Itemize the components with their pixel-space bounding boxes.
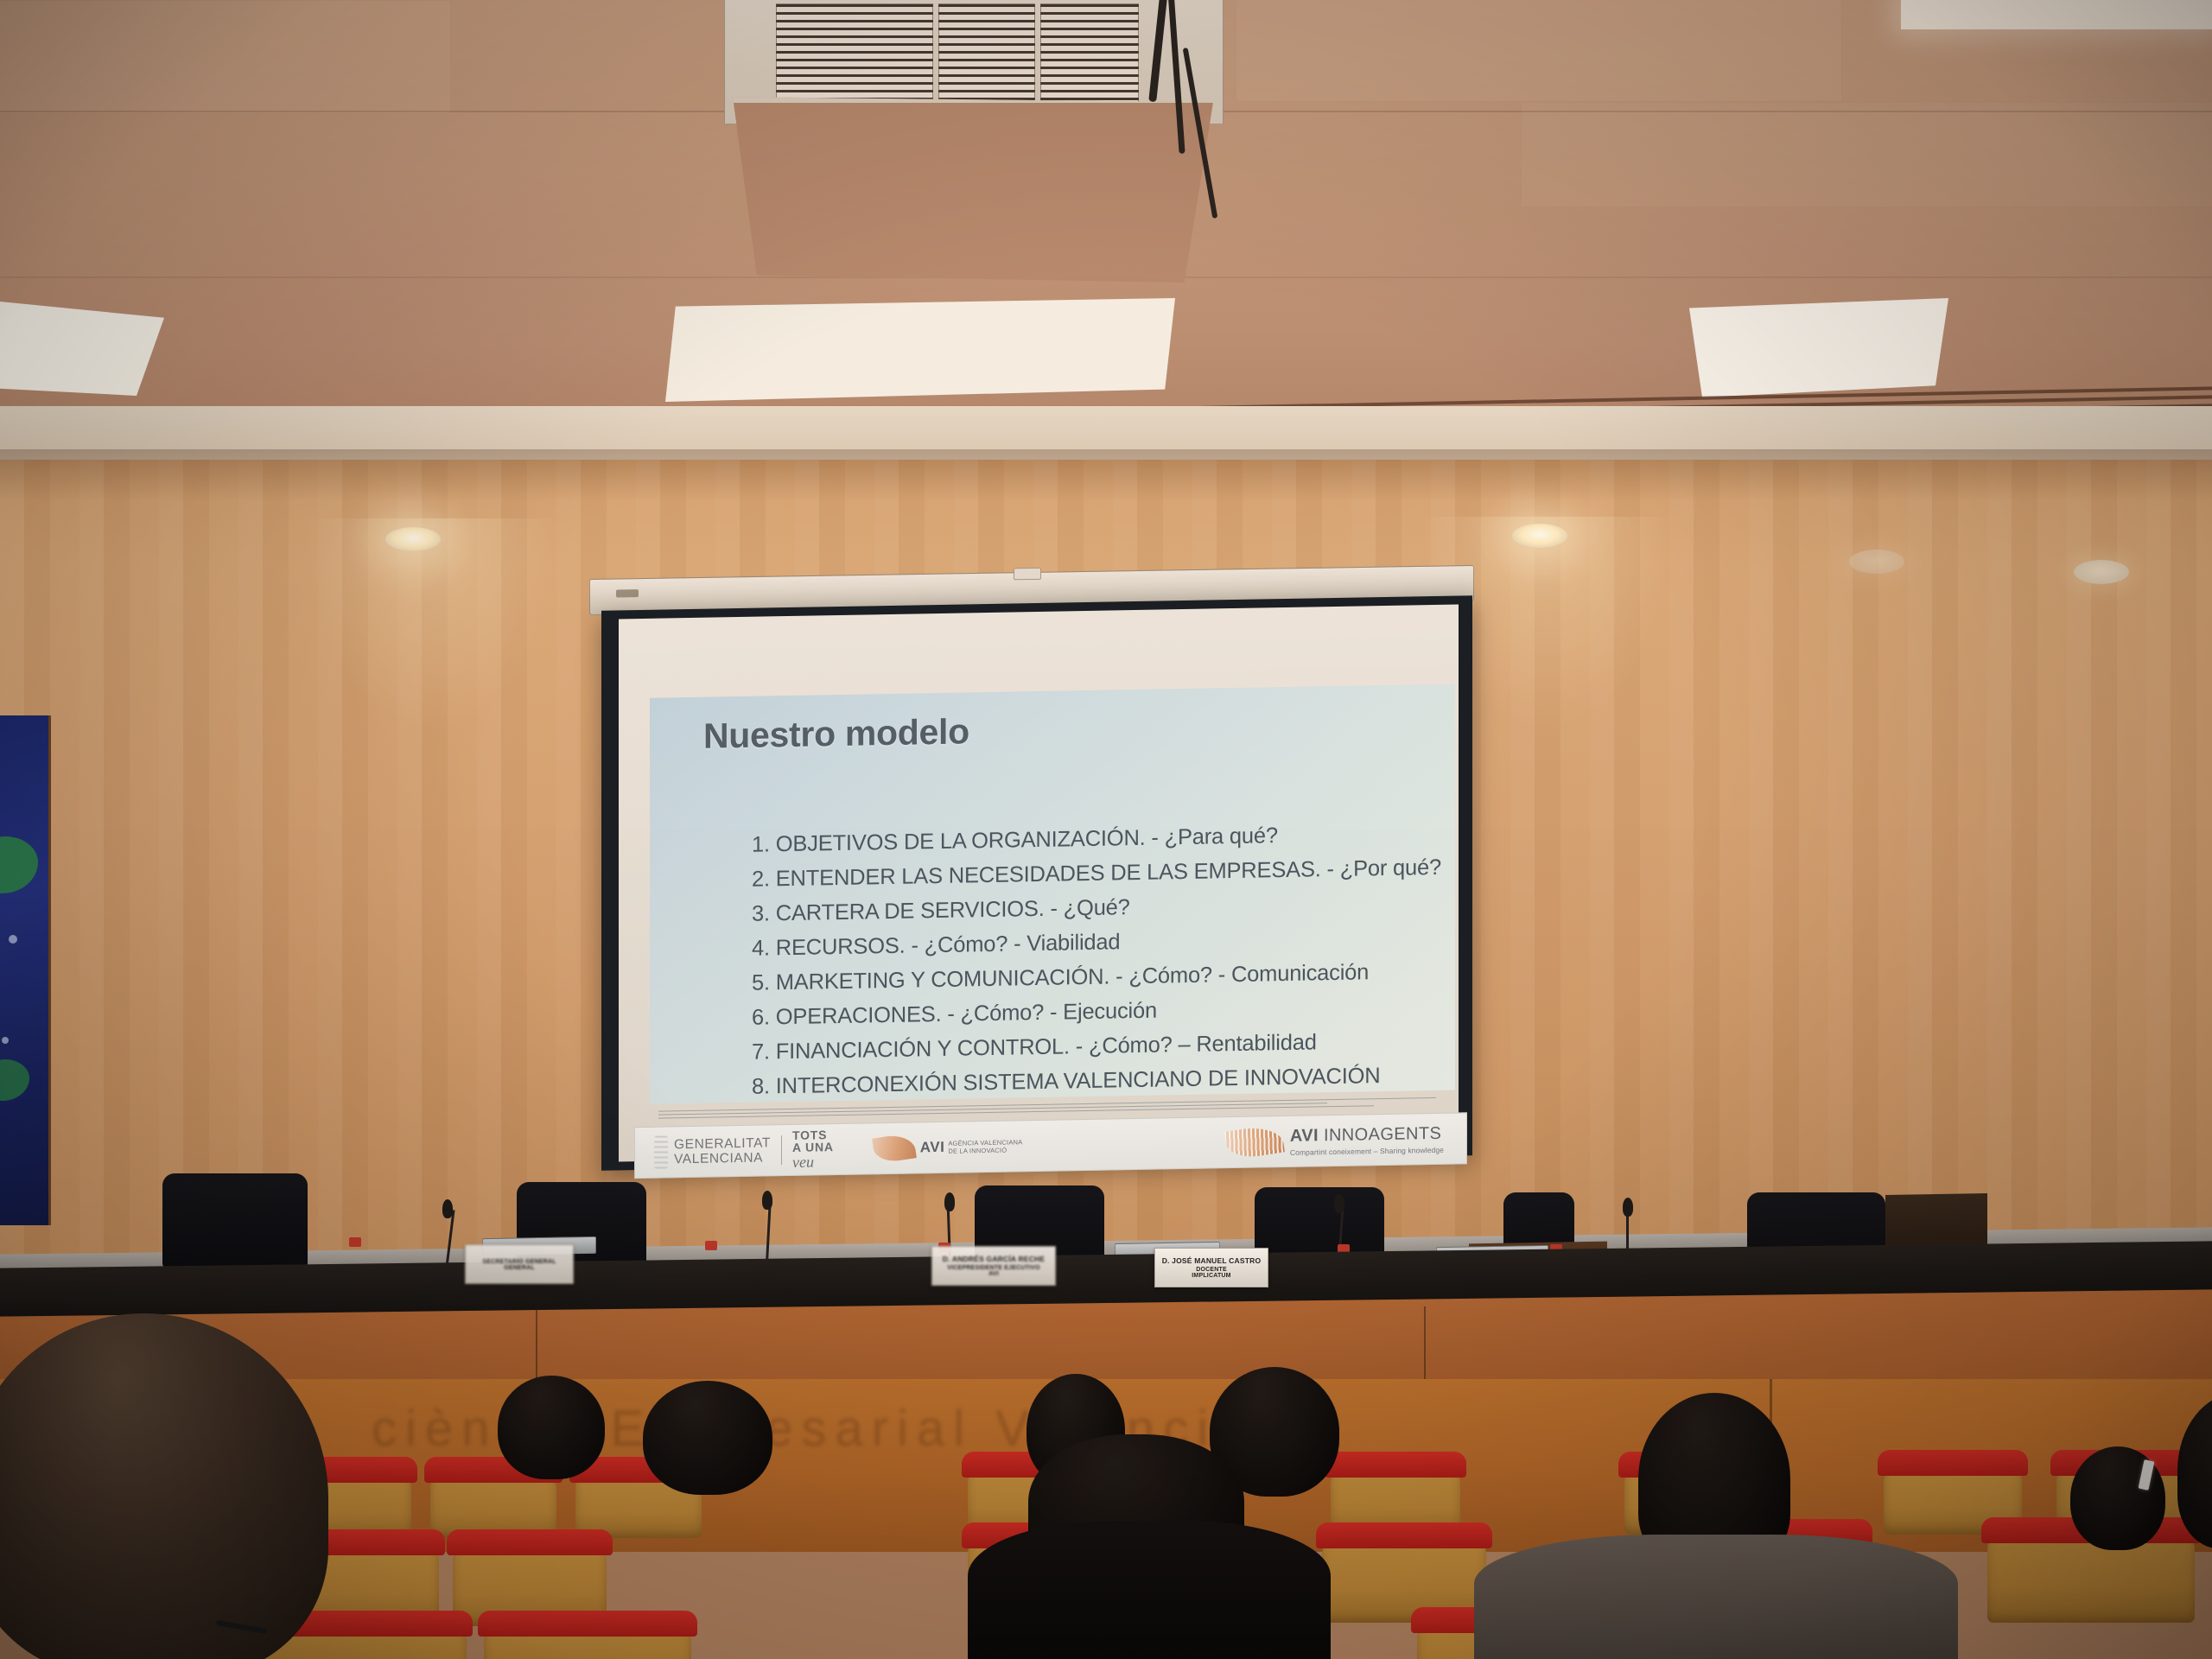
auditorium-seat: [1987, 1535, 2195, 1623]
microphone-indicator-led: [349, 1237, 361, 1247]
audience-person-shoulders: [1474, 1535, 1958, 1659]
air-vent-icon: [938, 3, 1035, 114]
microphone-indicator-led: [705, 1241, 717, 1250]
projected-slide: Nuestro modelo 1. OBJETIVOS DE LA ORGANI…: [650, 684, 1455, 1104]
innoagents-tagline: Compartint coneixement – Sharing knowled…: [1290, 1145, 1444, 1156]
nameplate-role: DOCENTE: [1196, 1267, 1227, 1273]
roller-brand-label: [616, 589, 639, 597]
innoagents-abbreviation: AVI: [1290, 1126, 1319, 1147]
nameplate-name: D. ANDRÉS GARCÍA RECHE: [943, 1255, 1046, 1263]
ceiling-light-panel-corner: [1901, 0, 2212, 29]
roller-center-nub: [1014, 568, 1041, 581]
ceiling-light-panel-right: [1689, 298, 1948, 397]
screen-surface: Nuestro modelo 1. OBJETIVOS DE LA ORGANI…: [619, 604, 1459, 1161]
nameplate-name: D. JOSÉ MANUEL CASTRO: [1162, 1256, 1262, 1265]
spotlight-icon: [385, 527, 441, 551]
wall-shadow: [0, 449, 2212, 501]
spotlight-icon: [1512, 524, 1567, 548]
nameplate-org: AVI: [988, 1271, 999, 1277]
microphone-icon: [1623, 1198, 1633, 1217]
audience-person-head: [643, 1381, 772, 1495]
slide-bullet-list: 1. OBJETIVOS DE LA ORGANIZACIÓN. - ¿Para…: [752, 815, 1455, 1103]
screen-frame: Nuestro modelo 1. OBJETIVOS DE LA ORGANI…: [601, 595, 1472, 1171]
nameplate: D. ANDRÉS GARCÍA RECHE VICEPRESIDENTE EJ…: [931, 1246, 1056, 1286]
ceiling-light-panel-center: [665, 298, 1175, 402]
nameplate: SECRETARIO GENERAL GENERAL: [465, 1244, 574, 1284]
logo-divider: [781, 1135, 782, 1165]
avi-subtitle-line-2: DE LA INNOVACIÓ: [948, 1146, 1022, 1155]
microphone-icon: [762, 1191, 772, 1210]
audience-person-head: [498, 1376, 605, 1479]
slide-title: Nuestro modelo: [703, 711, 969, 756]
auditorium-scene: Nuestro modelo 1. OBJETIVOS DE LA ORGANI…: [0, 0, 2212, 1659]
microphone-icon: [944, 1192, 955, 1211]
generalitat-line-1: GENERALITAT: [674, 1135, 771, 1152]
tots-line-1: TOTS: [792, 1128, 834, 1141]
auditorium-seat: [430, 1474, 556, 1538]
microphone-icon: [1334, 1194, 1344, 1213]
auditorium-seat: [484, 1628, 691, 1659]
air-vent-icon: [776, 3, 933, 114]
nameplate-role: VICEPRESIDENTE EJECUTIVO: [947, 1265, 1040, 1271]
slide-logo-bar: GENERALITAT VALENCIANA TOTS A UNA veu: [634, 1112, 1467, 1179]
hvac-perforated-skirt: [733, 97, 1213, 283]
avi-abbreviation: AVI: [920, 1139, 945, 1156]
spotlight-icon: [1849, 550, 1904, 574]
speaker-chair: [162, 1173, 308, 1268]
generalitat-line-2: VALENCIANA: [674, 1150, 771, 1166]
microphone-icon: [442, 1199, 453, 1218]
spotlight-icon: [2074, 560, 2129, 584]
generalitat-valenciana-logo: GENERALITAT VALENCIANA TOTS A UNA veu: [654, 1128, 834, 1174]
tots-line-3: veu: [792, 1153, 834, 1172]
projection-screen: Nuestro modelo 1. OBJETIVOS DE LA ORGANI…: [584, 570, 1491, 1184]
innoagents-swoosh-icon: [1224, 1123, 1285, 1161]
ceiling-hvac-unit: [724, 0, 1222, 280]
air-vent-icon: [1040, 3, 1139, 114]
nameplate-role: SECRETARIO GENERAL: [482, 1259, 556, 1265]
nameplate: D. JOSÉ MANUEL CASTRO DOCENTE IMPLICATUM: [1154, 1248, 1268, 1287]
avi-swoosh-icon: [872, 1132, 917, 1164]
innoagents-name: INNOAGENTS: [1324, 1123, 1441, 1145]
nameplate-org: GENERAL: [504, 1265, 535, 1271]
avi-innoagents-logo: AVI INNOAGENTS Compartint coneixement – …: [1226, 1123, 1444, 1157]
tots-line-2: A UNA: [792, 1141, 834, 1154]
generalitat-mark-icon: [654, 1135, 668, 1168]
avi-logo: AVI AGÈNCIA VALENCIANA DE LA INNOVACIÓ: [874, 1133, 1023, 1161]
poster-icon: [0, 715, 51, 1225]
audience-person-shoulders: [968, 1521, 1331, 1659]
nameplate-org: IMPLICATUM: [1192, 1273, 1230, 1279]
